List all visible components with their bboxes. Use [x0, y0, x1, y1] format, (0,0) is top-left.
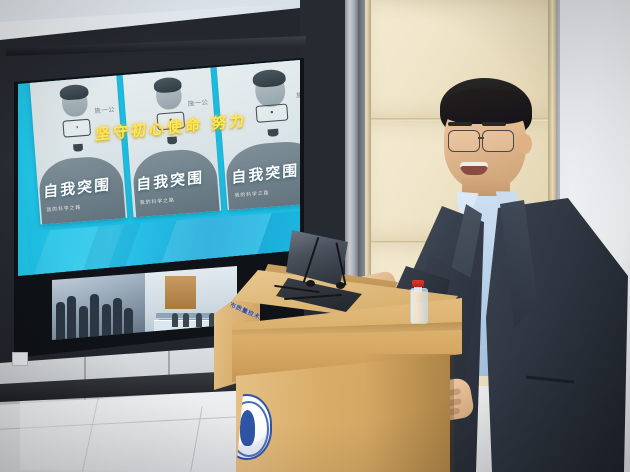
bottle-icon	[410, 280, 426, 324]
glasses-icon	[448, 130, 524, 150]
wall-socket-icon	[12, 352, 28, 366]
speaker-fringe	[442, 88, 530, 124]
speaker-eyebrow	[482, 122, 506, 126]
presentation-slide: 施一公 自我突围 我的科学之路 施一公 自我突围 我的科学之路	[18, 60, 300, 276]
podium-emblem-icon	[222, 394, 272, 460]
microphone-head	[336, 282, 345, 289]
speaker-eyebrow	[448, 122, 472, 126]
speaker-mouth	[460, 162, 488, 175]
podium-body-shadow	[364, 354, 454, 472]
book-cover-poster: 施一公 自我突围 我的科学之路	[215, 60, 300, 210]
microphone-head	[306, 280, 315, 287]
screen-top-bezel	[6, 36, 306, 56]
slide-display: 施一公 自我突围 我的科学之路 施一公 自我突围 我的科学之路	[18, 60, 300, 276]
poster-title: 施一公	[170, 100, 209, 111]
podium: 市质量技术监督局	[214, 262, 464, 472]
speaker-jacket-right	[482, 198, 628, 472]
poster-title: 施一公	[77, 107, 116, 118]
photograph-scene: 施一公 自我突围 我的科学之路 施一公 自我突围 我的科学之路	[0, 0, 630, 472]
